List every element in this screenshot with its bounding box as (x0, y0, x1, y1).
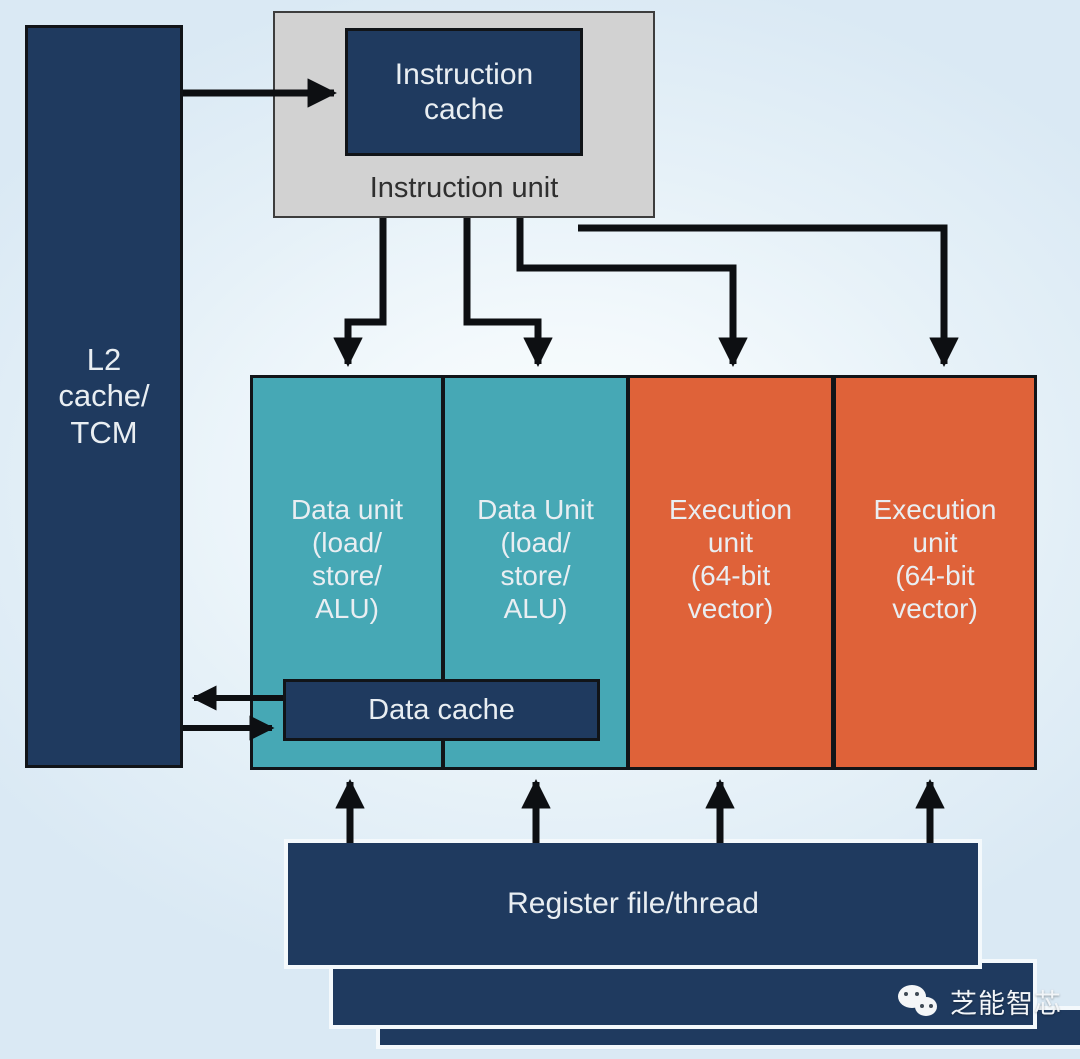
wire-iu-to-execution-unit-1 (520, 218, 733, 364)
l2-cache-line-3: TCM (70, 415, 137, 452)
data-unit-1-line-4: ALU) (315, 592, 379, 625)
execution-unit-1-line-4: vector) (688, 592, 774, 625)
watermark-text: 芝能智芯 (950, 982, 1062, 1021)
execution-unit-2-line-3: (64-bit (895, 559, 974, 592)
instruction-unit-label: Instruction unit (275, 171, 653, 205)
block-instruction-cache: Instruction cache (345, 28, 583, 156)
data-cache-label: Data cache (368, 693, 515, 727)
execution-unit-2-line-1: Execution (874, 493, 997, 526)
execution-unit-1-line-1: Execution (669, 493, 792, 526)
data-unit-1-line-1: Data unit (291, 493, 403, 526)
data-unit-2-line-2: (load/ (500, 526, 570, 559)
register-file-label: Register file/thread (507, 886, 759, 921)
execution-unit-1-line-3: (64-bit (691, 559, 770, 592)
wechat-icon (898, 985, 942, 1019)
data-unit-1-line-3: store/ (312, 559, 382, 592)
block-data-cache: Data cache (283, 679, 600, 741)
data-unit-2-line-1: Data Unit (477, 493, 594, 526)
block-execution-unit-2: Execution unit (64-bit vector) (833, 375, 1037, 770)
l2-cache-line-1: L2 (87, 342, 121, 379)
watermark: 芝能智芯 (898, 982, 1062, 1021)
execution-unit-1-line-2: unit (708, 526, 753, 559)
wire-iu-to-data-unit-2 (467, 218, 538, 364)
instruction-cache-line-2: cache (424, 92, 504, 127)
data-unit-1-line-2: (load/ (312, 526, 382, 559)
l2-cache-line-2: cache/ (58, 378, 149, 415)
wire-iu-to-data-unit-1 (348, 218, 383, 364)
data-unit-2-line-4: ALU) (504, 592, 568, 625)
instruction-cache-line-1: Instruction (395, 57, 533, 92)
diagram-canvas: L2 cache/ TCM Instruction unit Instructi… (0, 0, 1080, 1059)
block-register-file: Register file/thread (288, 843, 978, 965)
block-l2-cache: L2 cache/ TCM (25, 25, 183, 768)
block-execution-unit-1: Execution unit (64-bit vector) (627, 375, 834, 770)
execution-unit-2-line-2: unit (912, 526, 957, 559)
execution-unit-2-line-4: vector) (892, 592, 978, 625)
data-unit-2-line-3: store/ (500, 559, 570, 592)
wire-iu-to-execution-unit-2 (578, 228, 944, 364)
